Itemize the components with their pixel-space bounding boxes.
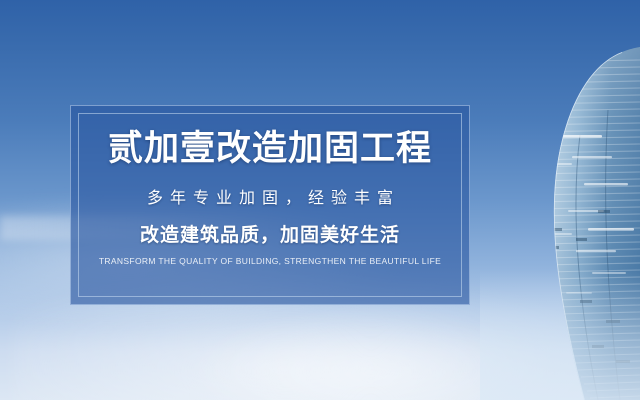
slogan-text: 改造建筑品质，加固美好生活 bbox=[140, 226, 400, 245]
english-slogan-text: TRANSFORM THE QUALITY OF BUILDING, STREN… bbox=[99, 257, 441, 266]
subtitle-tagline: 多年专业加固，经验丰富 bbox=[140, 191, 400, 207]
panel-content: 贰加壹改造加固工程 多年专业加固，经验丰富 改造建筑品质，加固美好生活 TRAN… bbox=[70, 105, 470, 305]
hero-banner: 贰加壹改造加固工程 多年专业加固，经验丰富 改造建筑品质，加固美好生活 TRAN… bbox=[0, 0, 640, 400]
page-title: 贰加壹改造加固工程 bbox=[108, 131, 432, 166]
hero-text-panel: 贰加壹改造加固工程 多年专业加固，经验丰富 改造建筑品质，加固美好生活 TRAN… bbox=[70, 105, 470, 305]
skyscraper-image bbox=[480, 0, 640, 400]
